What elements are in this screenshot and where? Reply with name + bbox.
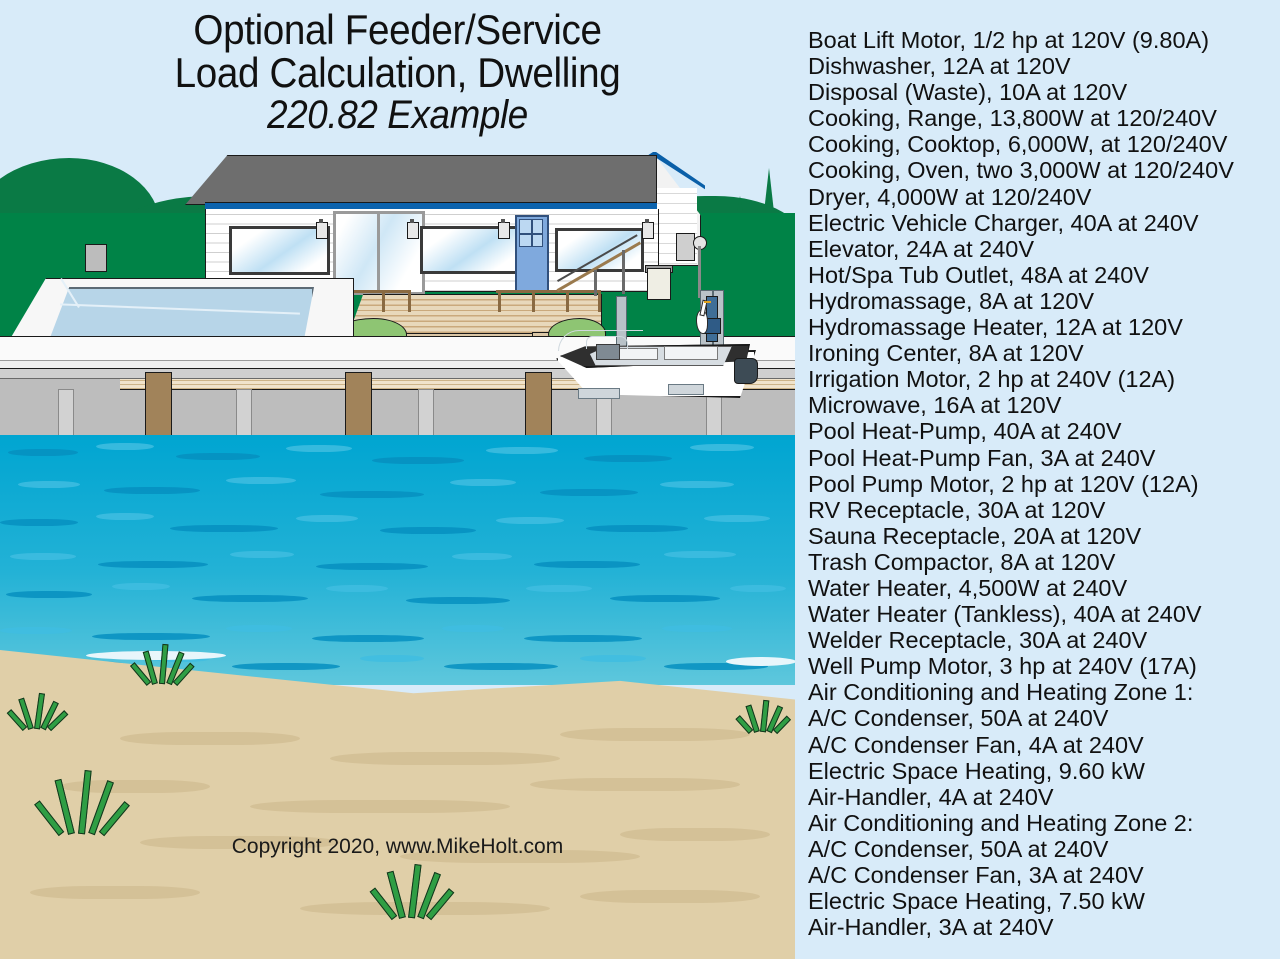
load-list-item: Hot/Spa Tub Outlet, 48A at 240V	[808, 262, 1278, 288]
wall-lantern-icon	[498, 222, 510, 239]
rail-post	[566, 290, 569, 312]
wall-lantern-icon	[407, 222, 419, 239]
load-list-item: Cooking, Cooktop, 6,000W, at 120/240V	[808, 131, 1278, 157]
stair-post	[622, 250, 625, 294]
load-list-item: Disposal (Waste), 10A at 120V	[808, 79, 1278, 105]
load-list-item: Water Heater, 4,500W at 240V	[808, 575, 1278, 601]
ac-unit	[85, 244, 107, 272]
load-list-item: Water Heater (Tankless), 40A at 240V	[808, 601, 1278, 627]
service-disconnect	[647, 268, 671, 300]
load-list-item: Electric Space Heating, 7.50 kW	[808, 888, 1278, 914]
load-list-item: Pool Heat-Pump Fan, 3A at 240V	[808, 445, 1278, 471]
load-list-item: Electric Vehicle Charger, 40A at 240V	[808, 210, 1278, 236]
load-list-item: Pool Heat-Pump, 40A at 240V	[808, 418, 1278, 444]
pool-water	[48, 287, 314, 343]
load-list-item: Trash Compactor, 8A at 120V	[808, 549, 1278, 575]
seawall-pile	[418, 389, 434, 439]
load-list-item: Boat Lift Motor, 1/2 hp at 120V (9.80A)	[808, 27, 1278, 53]
load-list-item: Electric Space Heating, 9.60 kW	[808, 758, 1278, 784]
load-list-item: A/C Condenser Fan, 3A at 240V	[808, 862, 1278, 888]
deck-railing	[496, 290, 600, 315]
load-list-item: A/C Condenser, 50A at 240V	[808, 705, 1278, 731]
rail-post	[498, 290, 501, 312]
electric-meter	[676, 233, 695, 261]
load-list-item: Air Conditioning and Heating Zone 2:	[808, 810, 1278, 836]
water	[0, 435, 795, 685]
load-list-item: RV Receptacle, 30A at 120V	[808, 497, 1278, 523]
load-list-item: Ironing Center, 8A at 120V	[808, 340, 1278, 366]
load-list-item: Dishwasher, 12A at 120V	[808, 53, 1278, 79]
copyright-notice: Copyright 2020, www.MikeHolt.com	[0, 835, 795, 859]
title-line-2: Load Calculation, Dwelling	[32, 51, 763, 94]
lift-bunk	[668, 384, 704, 395]
outboard-motor	[734, 358, 758, 384]
load-list-item: A/C Condenser Fan, 4A at 240V	[808, 732, 1278, 758]
window	[229, 226, 330, 275]
load-list-item: Sauna Receptacle, 20A at 120V	[808, 523, 1278, 549]
load-list-item: Irrigation Motor, 2 hp at 240V (12A)	[808, 366, 1278, 392]
rail-post	[408, 290, 411, 312]
load-list-item: Air-Handler, 3A at 240V	[808, 914, 1278, 940]
load-list-item: Air Conditioning and Heating Zone 1:	[808, 679, 1278, 705]
title-line-1: Optional Feeder/Service	[32, 8, 763, 51]
boat-bow-rail	[558, 330, 643, 351]
load-list-item: A/C Condenser, 50A at 240V	[808, 836, 1278, 862]
title-line-3: 220.82 Example	[32, 94, 763, 137]
load-list-item: Welder Receptacle, 30A at 240V	[808, 627, 1278, 653]
wall-lantern-icon	[316, 222, 328, 239]
lift-bunk	[578, 388, 620, 399]
waterfront-dwelling-illustration: Optional Feeder/Service Load Calculation…	[0, 0, 795, 959]
load-list-item: Hydromassage Heater, 12A at 120V	[808, 314, 1278, 340]
load-list-item: Elevator, 24A at 240V	[808, 236, 1278, 262]
rail-post	[532, 290, 535, 312]
load-list-item: Dryer, 4,000W at 120/240V	[808, 184, 1278, 210]
rail-post	[598, 290, 601, 312]
stair-post	[594, 270, 597, 296]
bird-beak	[704, 301, 711, 303]
load-list-item: Cooking, Range, 13,800W at 120/240V	[808, 105, 1278, 131]
load-list-item: Hydromassage, 8A at 120V	[808, 288, 1278, 314]
load-list-item: Well Pump Motor, 3 hp at 240V (17A)	[808, 653, 1278, 679]
load-list-item: Pool Pump Motor, 2 hp at 120V (12A)	[808, 471, 1278, 497]
seawall-pile	[58, 389, 74, 439]
boat-seat	[664, 346, 718, 360]
rail-post	[382, 290, 385, 312]
load-list-panel: Boat Lift Motor, 1/2 hp at 120V (9.80A)D…	[795, 0, 1280, 959]
door-window-lite	[519, 219, 543, 247]
wall-lantern-icon	[642, 222, 654, 239]
seawall-pile	[236, 389, 252, 439]
figure-canvas: Optional Feeder/Service Load Calculation…	[0, 0, 1280, 959]
load-list-item: Cooking, Oven, two 3,000W at 120/240V	[808, 157, 1278, 183]
roof	[185, 155, 657, 205]
page-title: Optional Feeder/Service Load Calculation…	[0, 8, 795, 137]
load-list: Boat Lift Motor, 1/2 hp at 120V (9.80A)D…	[808, 27, 1278, 940]
load-list-item: Microwave, 16A at 120V	[808, 392, 1278, 418]
boat	[556, 322, 756, 394]
load-list-item: Air-Handler, 4A at 240V	[808, 784, 1278, 810]
